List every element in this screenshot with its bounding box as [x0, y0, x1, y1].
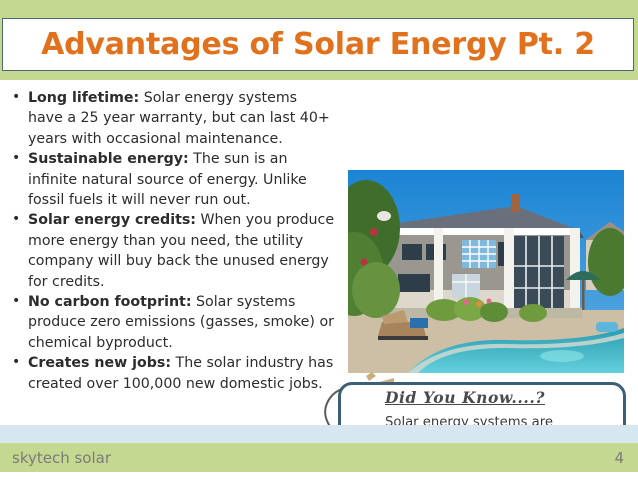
bullet-list: Long lifetime: Solar energy systems have… [6, 88, 336, 394]
footer-blue-strip [0, 425, 638, 443]
body-area: Long lifetime: Solar energy systems have… [0, 80, 638, 425]
page-title: Advantages of Solar Energy Pt. 2 [41, 27, 595, 62]
list-item: No carbon footprint: Solar systems produ… [6, 292, 336, 353]
house-photo [348, 170, 624, 373]
list-item: Long lifetime: Solar energy systems have… [6, 88, 336, 149]
slide: Advantages of Solar Energy Pt. 2 Long li… [0, 0, 638, 479]
bullet-lead: Long lifetime: [28, 90, 139, 106]
footer-white-strip [0, 472, 638, 479]
list-item: Solar energy credits: When you produce m… [6, 210, 336, 292]
bullet-lead: Sustainable energy: [28, 151, 189, 167]
callout-title: Did You Know....? [385, 388, 545, 407]
bullet-lead: Solar energy credits: [28, 212, 196, 228]
title-band: Advantages of Solar Energy Pt. 2 [2, 18, 634, 71]
footer-brand: skytech solar [12, 449, 111, 467]
list-item: Creates new jobs: The solar industry has… [6, 353, 336, 394]
bullet-lead: Creates new jobs: [28, 355, 171, 371]
bullet-lead: No carbon footprint: [28, 294, 192, 310]
page-number: 4 [614, 449, 624, 467]
list-item: Sustainable energy: The sun is an infini… [6, 149, 336, 210]
